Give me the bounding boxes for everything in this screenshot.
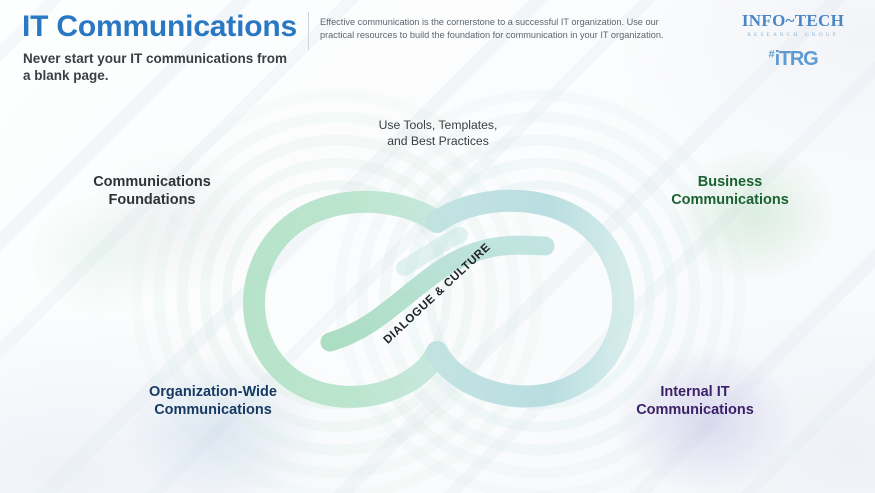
page-subtitle: Never start your IT communications from … — [23, 50, 293, 84]
logo-wordmark: INFO~TECH — [733, 12, 853, 29]
node-label-business[interactable]: Business Communications — [630, 173, 830, 209]
logo-hashtag-text: iTRG — [775, 48, 818, 70]
slide-header: IT Communications Never start your IT co… — [0, 0, 875, 95]
header-divider — [308, 12, 309, 50]
center-caption: Use Tools, Templates, and Best Practices — [358, 118, 518, 149]
node-label-internal-it[interactable]: Internal IT Communications — [590, 383, 800, 419]
node-label-organization-wide[interactable]: Organization-Wide Communications — [108, 383, 318, 419]
page-title: IT Communications — [22, 10, 297, 44]
slide-canvas: IT Communications Never start your IT co… — [0, 0, 875, 493]
brand-logo: INFO~TECH RESEARCH GROUP #iTRG — [733, 12, 853, 69]
logo-tagline: RESEARCH GROUP — [733, 32, 853, 38]
header-description: Effective communication is the cornersto… — [320, 16, 685, 41]
node-label-foundations[interactable]: Communications Foundations — [62, 173, 242, 209]
logo-hashtag: #iTRG — [733, 49, 853, 69]
